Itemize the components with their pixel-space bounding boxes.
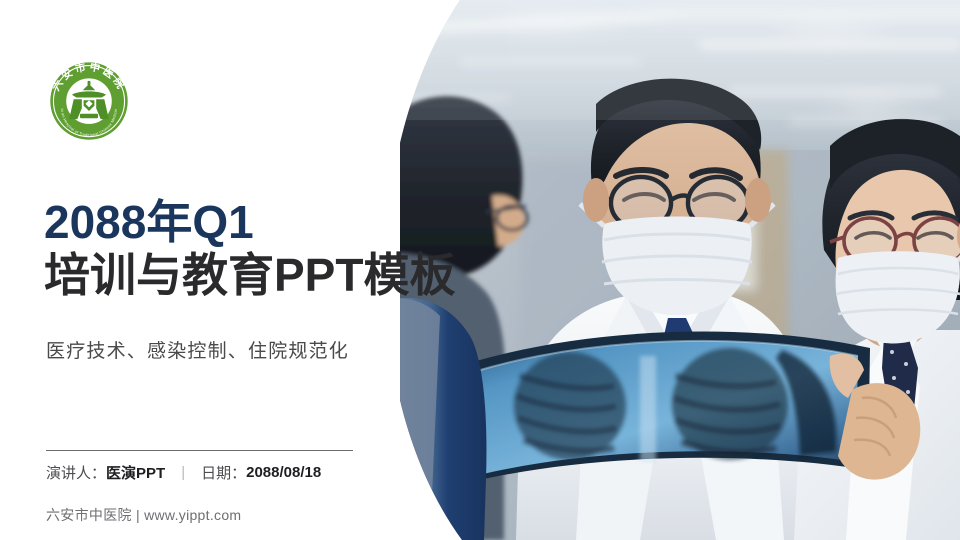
footer-credit: 六安市中医院 | www.yippt.com [46,505,241,525]
presenter-date-row: 演讲人： 医演PPT | 日期： 2088/08/18 [46,462,321,483]
presenter-value: 医演PPT [106,462,165,483]
subtitle: 医疗技术、感染控制、住院规范化 [46,336,349,363]
page-title: 2088年Q1 培训与教育PPT模板 [44,198,514,301]
title-line-2: 培训与教育PPT模板 [44,250,514,302]
date-label: 日期： [201,462,246,483]
date-value: 2088/08/18 [246,464,321,481]
hospital-logo-mark: 六安市中医院 Liu an Hospital of Traditional Ch… [44,56,134,148]
title-panel: 六安市中医院 Liu an Hospital of Traditional Ch… [0,0,520,540]
presentation-title-slide: 六安市中医院 Liu an Hospital of Traditional Ch… [0,0,960,540]
title-line-1: 2088年Q1 [44,198,514,248]
meta-separator: | [181,464,185,481]
presenter-label: 演讲人： [46,462,106,483]
hospital-logo: 六安市中医院 Liu an Hospital of Traditional Ch… [44,56,134,148]
divider-rule [46,450,353,451]
